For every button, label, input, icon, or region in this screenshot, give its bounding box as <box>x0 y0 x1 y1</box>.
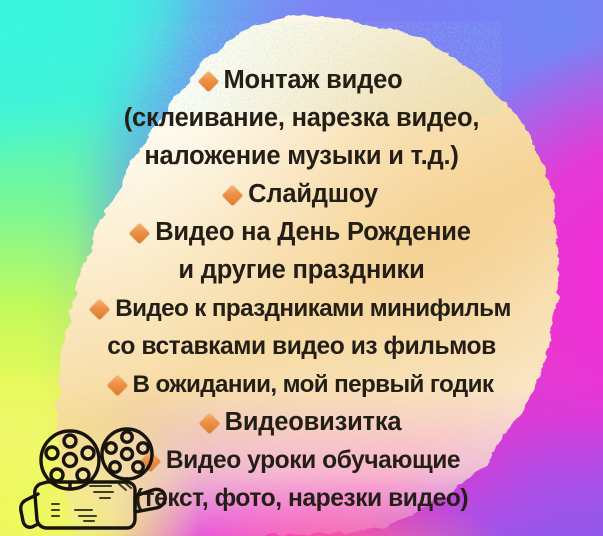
promo-poster: Монтаж видео (склеивание, нарезка видео,… <box>0 0 603 536</box>
diamond-bullet-icon <box>106 374 127 395</box>
diamond-bullet-icon <box>89 298 110 319</box>
diamond-bullet-icon <box>222 184 243 205</box>
list-item-label: Видеовизитка <box>225 410 402 436</box>
list-item: Видео к праздниками минифильм <box>0 290 603 328</box>
list-item: наложение музыки и т.д.) <box>0 138 603 176</box>
list-item-label: со вставками видео из фильмов <box>107 335 496 360</box>
list-item-label: Видео уроки обучающие <box>166 449 460 474</box>
list-item-label: Видео к праздниками минифильм <box>115 297 511 321</box>
list-item: Слайдшоу <box>0 176 603 214</box>
list-item-label: наложение музыки и т.д.) <box>144 144 458 170</box>
list-item-label: Слайдшоу <box>248 182 378 208</box>
diamond-bullet-icon <box>199 412 220 433</box>
list-item: и другие праздники <box>0 252 603 290</box>
list-item: со вставками видео из фильмов <box>0 328 603 366</box>
list-item-label: Монтаж видео <box>224 68 403 94</box>
list-item-label: Видео на День Рождение <box>155 220 471 246</box>
film-projector-icon <box>14 424 174 536</box>
list-item: Видео на День Рождение <box>0 214 603 252</box>
list-item-label: и другие праздники <box>178 258 424 284</box>
list-item: (склеивание, нарезка видео, <box>0 100 603 138</box>
list-item: В ожидании, мой первый годик <box>0 366 603 404</box>
list-item-label: В ожидании, мой первый годик <box>133 373 494 397</box>
list-item: Монтаж видео <box>0 62 603 100</box>
list-item-label: (склеивание, нарезка видео, <box>124 106 479 132</box>
diamond-bullet-icon <box>129 222 150 243</box>
diamond-bullet-icon <box>197 70 218 91</box>
list-item-label: (текст, фото, нарезки видео) <box>135 487 468 512</box>
